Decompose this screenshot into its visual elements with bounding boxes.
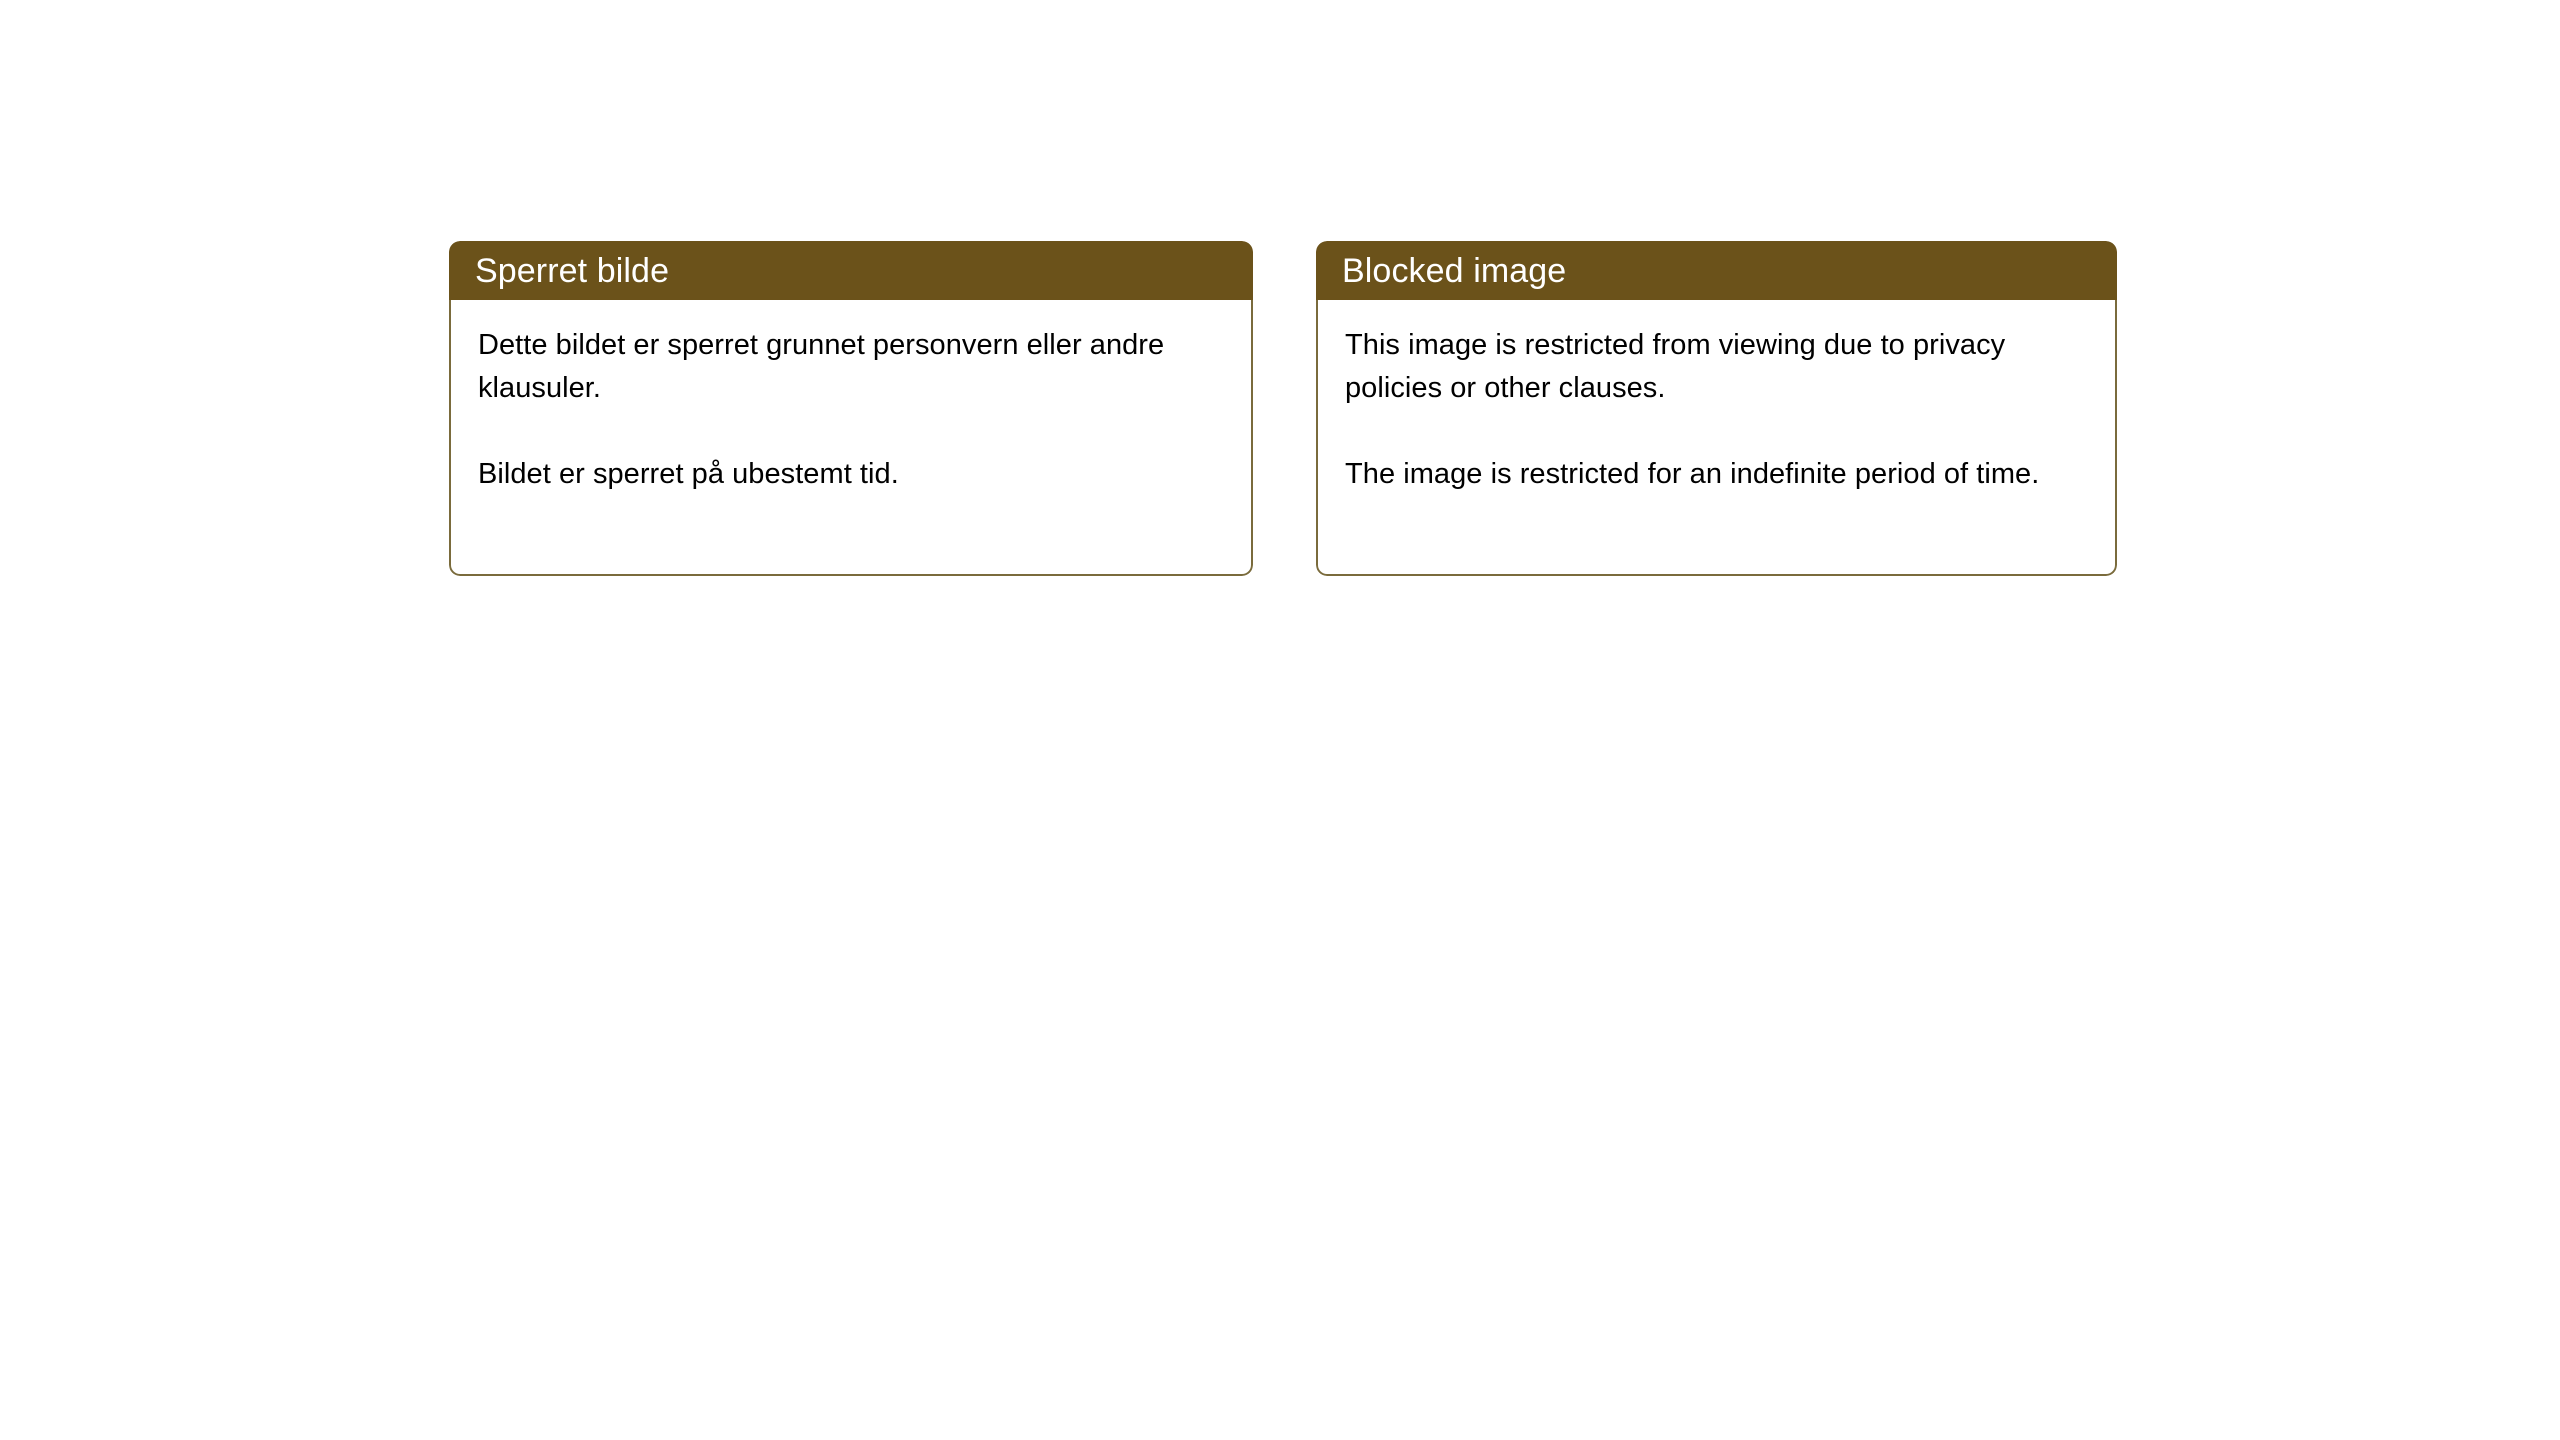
panel-title-norwegian: Sperret bilde <box>475 253 669 289</box>
blocked-image-notice-group: Sperret bilde Dette bildet er sperret gr… <box>449 241 2117 576</box>
blocked-image-panel-english: Blocked image This image is restricted f… <box>1316 241 2117 576</box>
panel-header-norwegian: Sperret bilde <box>449 241 1253 300</box>
panel-body-english: This image is restricted from viewing du… <box>1316 300 2117 576</box>
panel-paragraph-english-1: This image is restricted from viewing du… <box>1345 324 2089 410</box>
panel-title-english: Blocked image <box>1342 253 1566 289</box>
panel-body-norwegian: Dette bildet er sperret grunnet personve… <box>449 300 1253 576</box>
blocked-image-panel-norwegian: Sperret bilde Dette bildet er sperret gr… <box>449 241 1253 576</box>
panel-paragraph-norwegian-2: Bildet er sperret på ubestemt tid. <box>478 453 1225 496</box>
panel-paragraph-english-2: The image is restricted for an indefinit… <box>1345 453 2089 496</box>
panel-paragraph-norwegian-1: Dette bildet er sperret grunnet personve… <box>478 324 1225 410</box>
panel-header-english: Blocked image <box>1316 241 2117 300</box>
